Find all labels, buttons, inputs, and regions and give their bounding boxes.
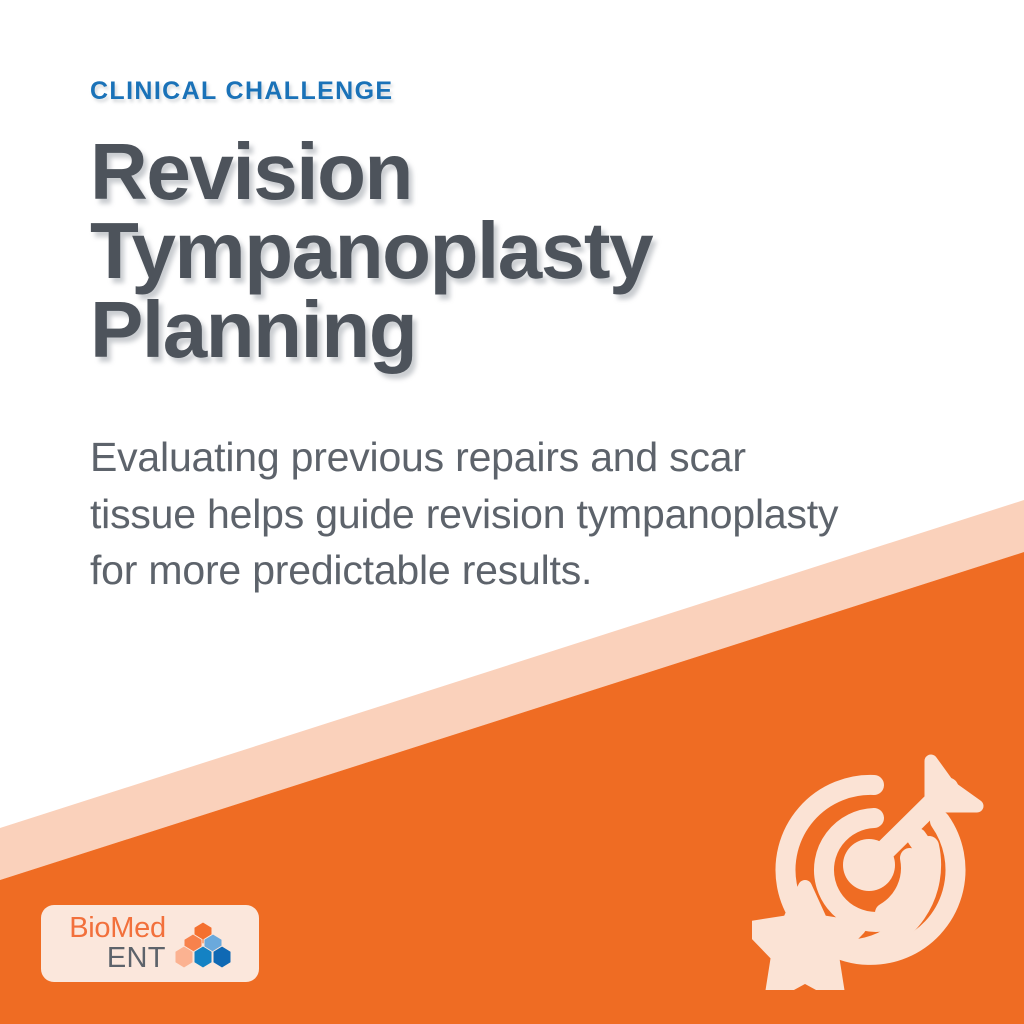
logo-line-biomed: BioMed	[69, 914, 166, 943]
arrow-fletch-horizontal	[942, 781, 977, 806]
hex-bottom-left	[175, 946, 193, 968]
target-arrow-star-icon	[752, 748, 994, 990]
social-card: CLINICAL CHALLENGE Revision Tympanoplast…	[0, 0, 1024, 1024]
hexagon-cluster-icon	[175, 920, 231, 968]
brand-logo[interactable]: BioMed ENT	[41, 905, 259, 982]
hex-bottom-mid	[194, 946, 212, 968]
page-title: Revision Tympanoplasty Planning	[90, 132, 970, 370]
hex-bottom-right	[213, 946, 231, 968]
subtitle-text: Evaluating previous repairs and scar tis…	[90, 429, 860, 599]
logo-wordmark: BioMed ENT	[69, 914, 166, 973]
logo-line-ent: ENT	[107, 944, 166, 973]
eyebrow-label: CLINICAL CHALLENGE	[90, 78, 970, 106]
text-block: CLINICAL CHALLENGE Revision Tympanoplast…	[90, 78, 970, 599]
